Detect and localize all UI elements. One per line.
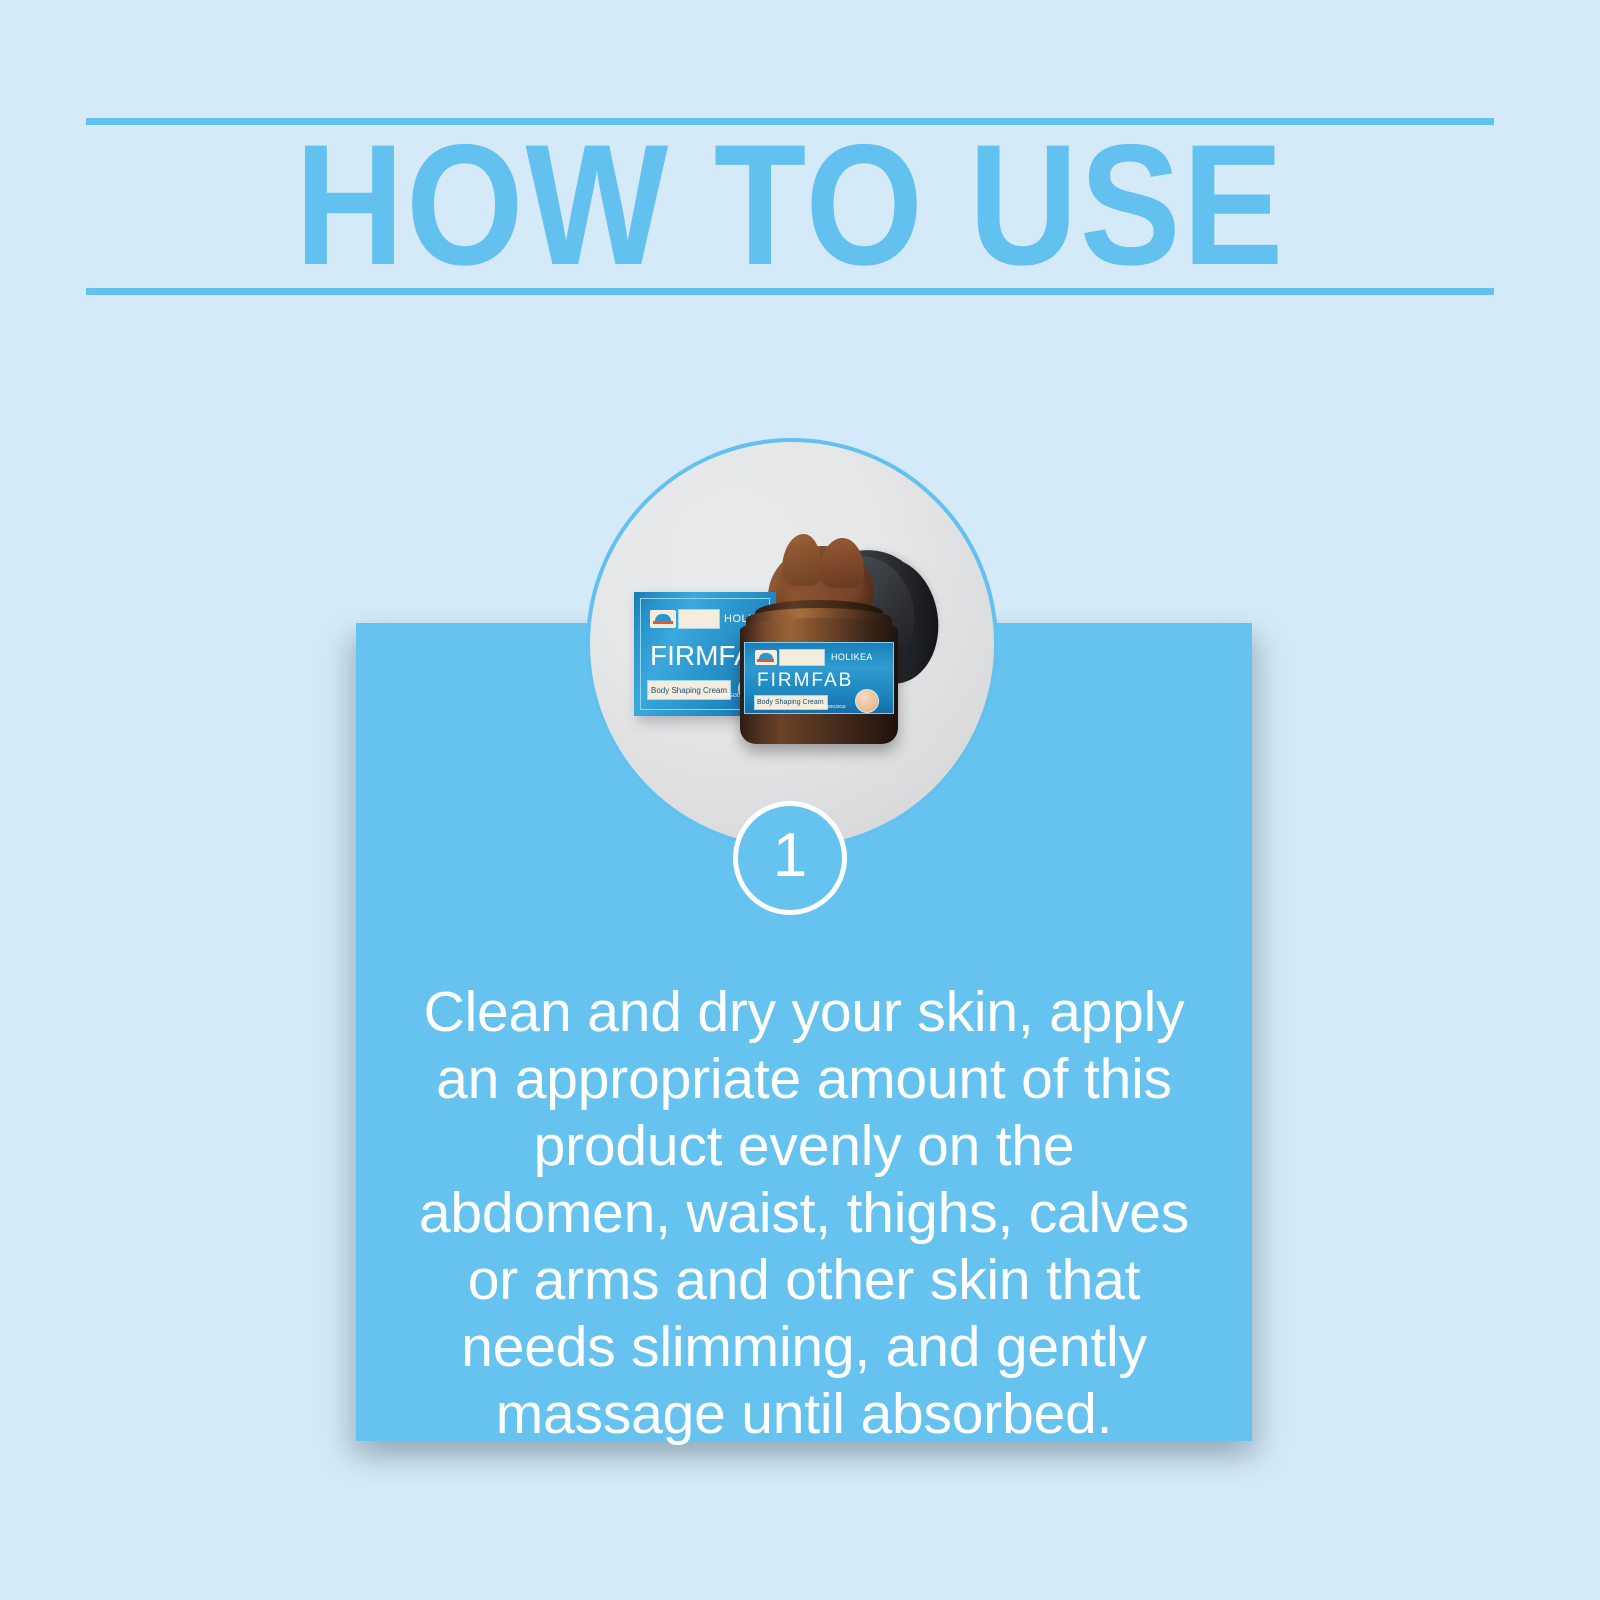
cream-peak-left (782, 534, 822, 586)
header-rule-bottom (86, 288, 1494, 295)
product-photo: HOLIKEA FIRMFAB Body Shaping Cream NET 8… (590, 442, 998, 850)
product-image-circle: HOLIKEA FIRMFAB Body Shaping Cream NET 8… (586, 438, 998, 850)
jar-net-weight: NET 80G/3OZ (817, 704, 846, 709)
jar-logo-icon (755, 650, 777, 665)
jar-product-name: FIRMFAB (757, 670, 853, 692)
step-number-badge: 1 (733, 801, 847, 915)
page-header: HOW TO USE (86, 112, 1494, 302)
carton-brand-plate (678, 609, 720, 629)
jar-label: HOLIKEA FIRMFAB Body Shaping Cream NET 8… (744, 642, 894, 714)
cream-peak-right (820, 538, 864, 588)
jar-skin-swatch-icon (855, 689, 879, 713)
step-instruction-text: Clean and dry your skin, apply an approp… (418, 979, 1190, 1448)
jar-brand: HOLIKEA (831, 652, 873, 662)
jar-brand-plate (779, 649, 825, 666)
carton-logo-icon (650, 610, 676, 628)
step-number-label: 1 (773, 825, 807, 887)
jar-subtitle: Body Shaping Cream (757, 699, 824, 706)
page-title: HOW TO USE (170, 122, 1409, 288)
